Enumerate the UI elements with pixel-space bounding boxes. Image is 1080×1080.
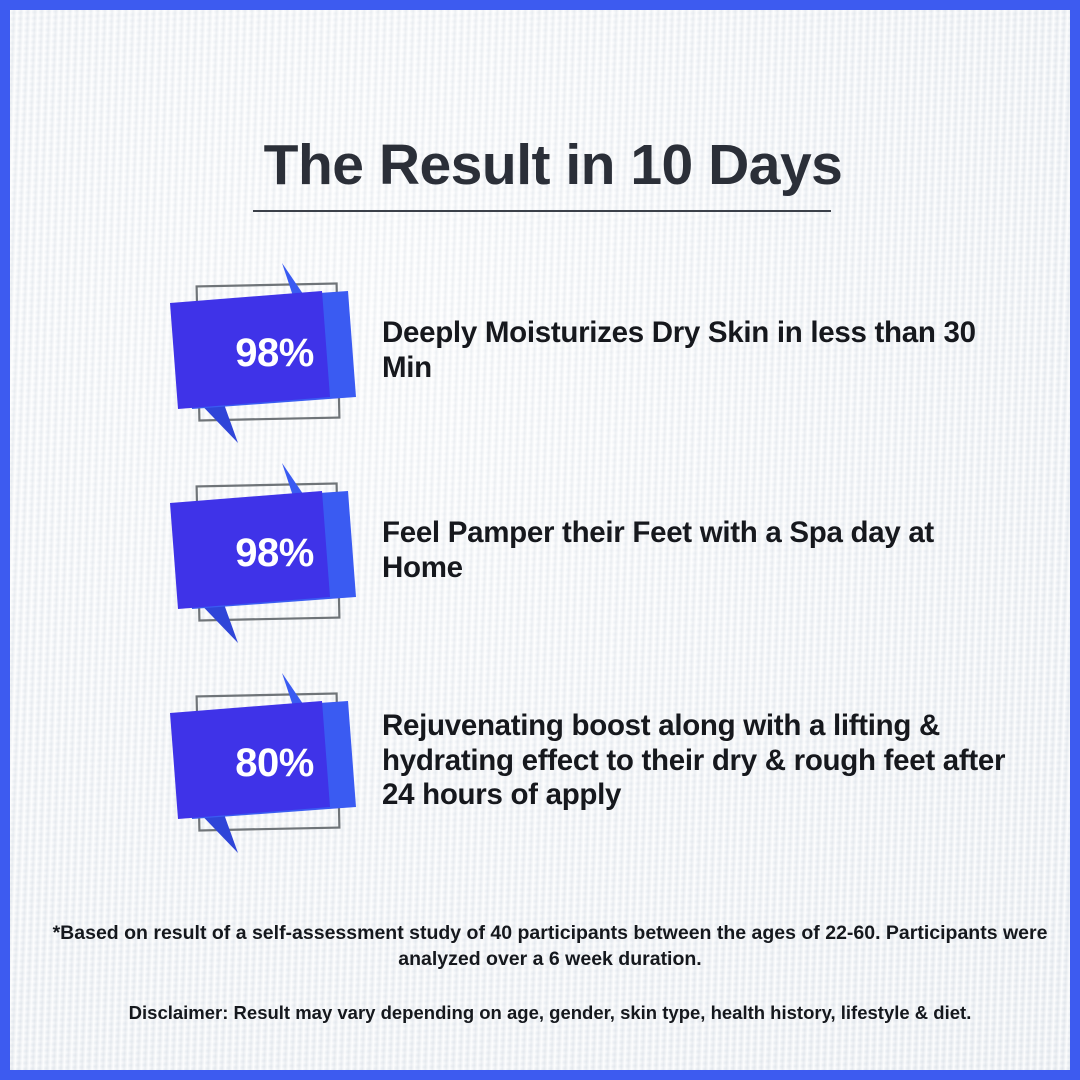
stat-badge-value: 98%	[170, 463, 370, 643]
disclaimer-note: Disclaimer: Result may vary depending on…	[50, 1001, 1050, 1026]
stat-row: 80% Rejuvenating boost along with a lift…	[10, 673, 1080, 853]
stat-row: 98% Deeply Moisturizes Dry Skin in less …	[10, 263, 1080, 443]
stat-row: 98% Feel Pamper their Feet with a Spa da…	[10, 463, 1080, 643]
stat-badge-value: 98%	[170, 263, 370, 443]
stat-description: Rejuvenating boost along with a lifting …	[382, 709, 1022, 813]
infographic-card: The Result in 10 Days 98% Deeply Moistur…	[0, 0, 1080, 1080]
page-title: The Result in 10 Days	[253, 136, 853, 196]
stat-badge: 80%	[170, 673, 370, 853]
stat-description: Feel Pamper their Feet with a Spa day at…	[382, 516, 1022, 585]
title-block: The Result in 10 Days	[253, 136, 853, 212]
stat-description: Deeply Moisturizes Dry Skin in less than…	[382, 316, 1022, 385]
infographic-content: The Result in 10 Days 98% Deeply Moistur…	[10, 10, 1070, 1070]
study-footnote: *Based on result of a self-assessment st…	[50, 920, 1050, 973]
stat-badge: 98%	[170, 463, 370, 643]
footer-block: *Based on result of a self-assessment st…	[50, 920, 1050, 1026]
stat-badge: 98%	[170, 263, 370, 443]
title-underline-divider	[253, 210, 831, 212]
stat-badge-value: 80%	[170, 673, 370, 853]
